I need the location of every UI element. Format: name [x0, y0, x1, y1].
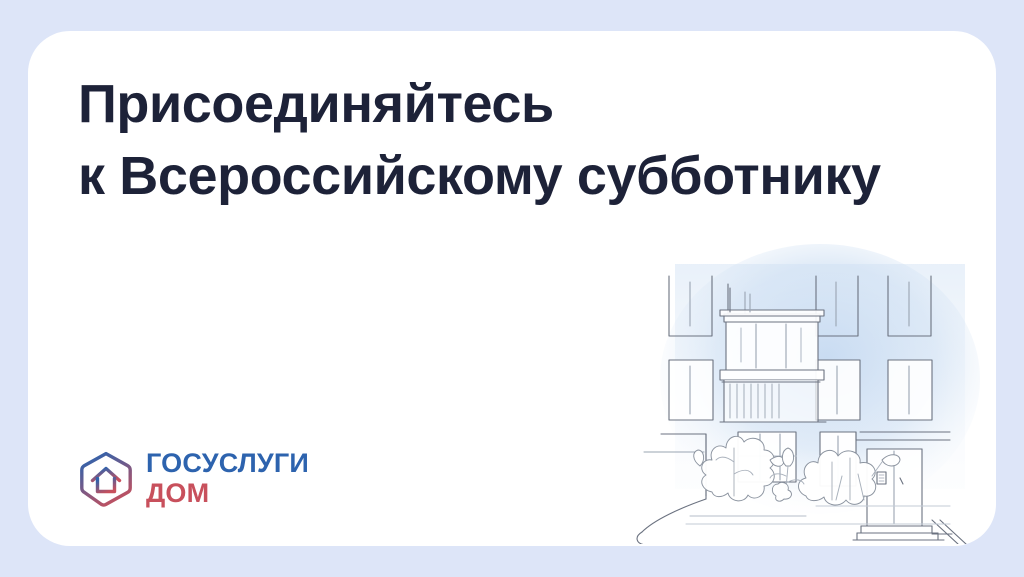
apartment-building-illustration [620, 244, 996, 544]
logo-word-gosuslugi: ГОСУСЛУГИ [146, 449, 309, 477]
gosuslugi-dom-logo[interactable]: ГОСУСЛУГИ ДОМ [80, 449, 309, 508]
logo-wordmark: ГОСУСЛУГИ ДОМ [146, 449, 309, 508]
banner-root: Присоединяйтесь к Всероссийскому субботн… [0, 0, 1024, 577]
logo-word-dom: ДОМ [146, 479, 309, 507]
window-second-left [669, 360, 713, 420]
banner-card: Присоединяйтесь к Всероссийскому субботн… [28, 31, 996, 546]
window-second-right [888, 360, 932, 420]
house-in-hexagon-icon [80, 451, 132, 506]
window-second-mid-right [816, 360, 860, 420]
page-title: Присоединяйтесь к Всероссийскому субботн… [78, 69, 918, 213]
entrance-steps [853, 526, 944, 540]
